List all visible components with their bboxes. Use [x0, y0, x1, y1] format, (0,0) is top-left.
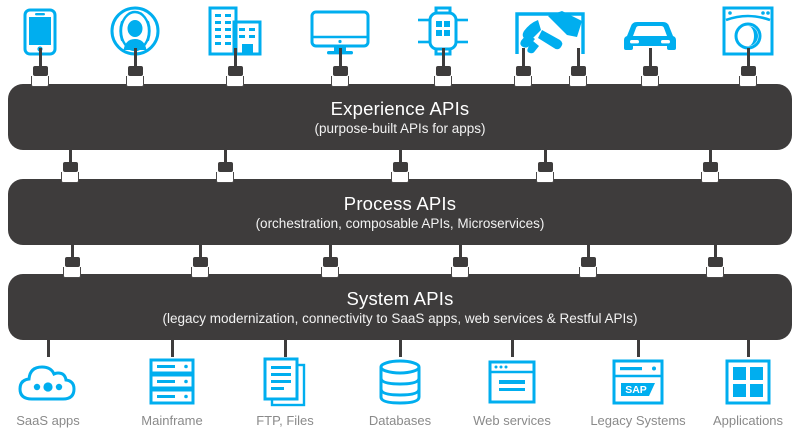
system-node-legacy-systems: SAP Legacy Systems: [578, 335, 698, 428]
system-node-mainframe: Mainframe: [112, 335, 232, 428]
cloud-icon: [17, 361, 79, 403]
connector-plug: [227, 48, 243, 88]
layer-experience-apis: Experience APIs (purpose-built APIs for …: [8, 84, 792, 150]
layer-subtitle: (purpose-built APIs for apps): [314, 120, 485, 138]
system-label: Applications: [688, 413, 800, 428]
app-grid-icon: [725, 359, 771, 405]
system-label: Databases: [340, 413, 460, 428]
system-node-web-services: Web services: [452, 335, 572, 428]
connector-plug: [707, 245, 723, 277]
system-icon: [225, 355, 345, 409]
connector-plug: [332, 48, 348, 88]
sap-badge-text: SAP: [625, 384, 647, 396]
layer-process-apis: Process APIs (orchestration, composable …: [8, 179, 792, 245]
sap-icon: SAP: [612, 359, 664, 405]
system-node-saas-apps: SaaS apps: [0, 335, 108, 428]
connector-plug: [702, 150, 718, 182]
connector-plug: [62, 150, 78, 182]
connector-plug: [192, 245, 208, 277]
connector-plug: [64, 245, 80, 277]
connector-plug: [392, 150, 408, 182]
connector-plug: [32, 48, 48, 88]
server-icon: [149, 358, 195, 406]
system-label: Web services: [452, 413, 572, 428]
layer-system-apis: System APIs (legacy modernization, conne…: [8, 274, 792, 340]
document-icon: [263, 358, 307, 406]
system-node-ftp-files: FTP, Files: [225, 335, 345, 428]
connector-plug: [435, 48, 451, 88]
connector-plug: [452, 245, 468, 277]
layer-subtitle: (orchestration, composable APIs, Microse…: [256, 215, 545, 233]
system-icon: [0, 355, 108, 409]
connector-plug: [740, 48, 756, 88]
layer-title: System APIs: [346, 287, 453, 310]
connector-plug: [580, 245, 596, 277]
system-icon: [452, 355, 572, 409]
system-icon: [112, 355, 232, 409]
connector-plug: [570, 48, 586, 88]
connector-plug: [322, 245, 338, 277]
connector-plug: [537, 150, 553, 182]
system-node-databases: Databases: [340, 335, 460, 428]
api-led-connectivity-diagram: Experience APIs (purpose-built APIs for …: [0, 0, 800, 430]
layer-title: Experience APIs: [331, 97, 470, 120]
system-label: Legacy Systems: [578, 413, 698, 428]
browser-icon: [488, 360, 536, 404]
layer-title: Process APIs: [344, 192, 456, 215]
system-icon: [340, 355, 460, 409]
system-label: Mainframe: [112, 413, 232, 428]
system-label: FTP, Files: [225, 413, 345, 428]
connector-plug: [217, 150, 233, 182]
system-node-applications: Applications: [688, 335, 800, 428]
system-icon: SAP: [578, 355, 698, 409]
system-label: SaaS apps: [0, 413, 108, 428]
database-icon: [378, 359, 422, 405]
system-icon: [688, 355, 800, 409]
layer-subtitle: (legacy modernization, connectivity to S…: [163, 310, 638, 328]
connector-plug: [642, 48, 658, 88]
connector-plug: [127, 48, 143, 88]
connector-plug: [515, 48, 531, 88]
